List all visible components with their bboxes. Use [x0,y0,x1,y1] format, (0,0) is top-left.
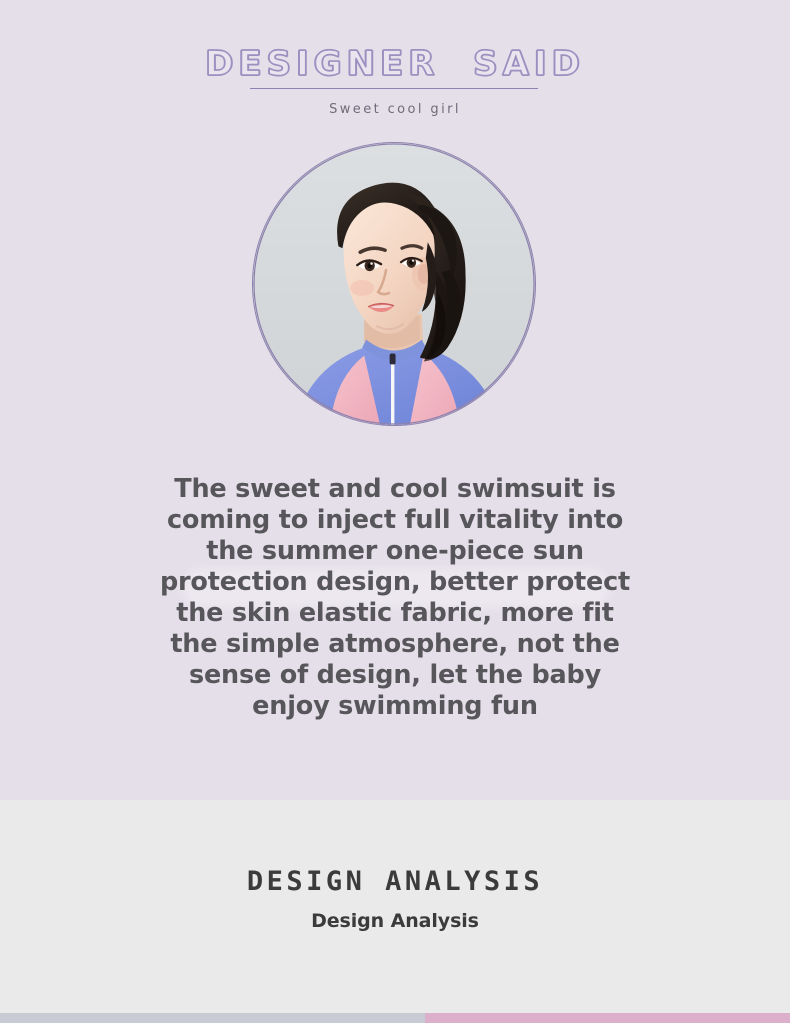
design-analysis-section: DESIGN ANALYSIS Design Analysis [0,800,790,1023]
designer-said-section: DESIGNER SAID Sweet cool girl [0,0,790,800]
designer-said-title-wrap: DESIGNER SAID [0,44,790,84]
product-description-text: The sweet and cool swimsuit is coming to… [150,474,640,722]
page-title: DESIGNER SAID [205,44,585,84]
product-detail-page: DESIGNER SAID Sweet cool girl [0,0,790,1023]
design-analysis-subtitle: Design Analysis [0,910,790,932]
title-divider [250,88,538,89]
bottom-bar-left-segment [0,1013,425,1023]
bottom-color-bar [0,1013,790,1023]
design-analysis-title: DESIGN ANALYSIS [0,866,790,897]
model-portrait-photo [252,142,536,426]
bottom-bar-right-segment [425,1013,790,1023]
page-subtitle: Sweet cool girl [0,102,790,117]
portrait-illustration [253,143,535,425]
